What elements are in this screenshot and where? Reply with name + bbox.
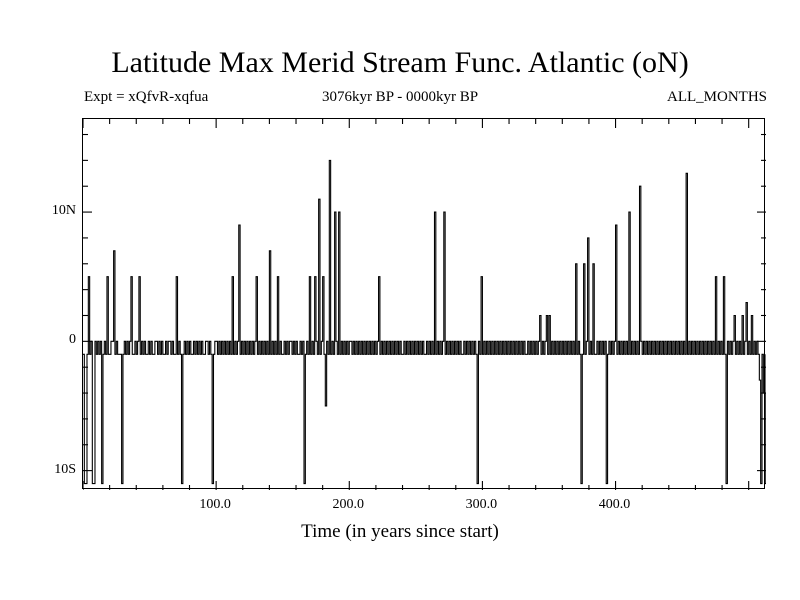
x-tick-label: 100.0: [199, 497, 231, 513]
page-title: Latitude Max Merid Stream Func. Atlantic…: [0, 46, 800, 80]
x-tick-label: 400.0: [599, 497, 631, 513]
y-tick-label: 10N: [52, 203, 76, 219]
plot-area: [82, 118, 765, 489]
y-tick-label: 0: [69, 332, 76, 348]
months-label: ALL_MONTHS: [667, 88, 767, 106]
x-tick-label: 200.0: [333, 497, 365, 513]
y-tick-label: 10S: [54, 462, 76, 478]
x-axis-title: Time (in years since start): [0, 521, 800, 543]
data-series-line: [83, 160, 766, 483]
chart-page: Latitude Max Merid Stream Func. Atlantic…: [0, 0, 800, 600]
timeseries-plot: [83, 119, 766, 490]
x-tick-label: 300.0: [466, 497, 498, 513]
axis-ticks: [83, 119, 766, 490]
